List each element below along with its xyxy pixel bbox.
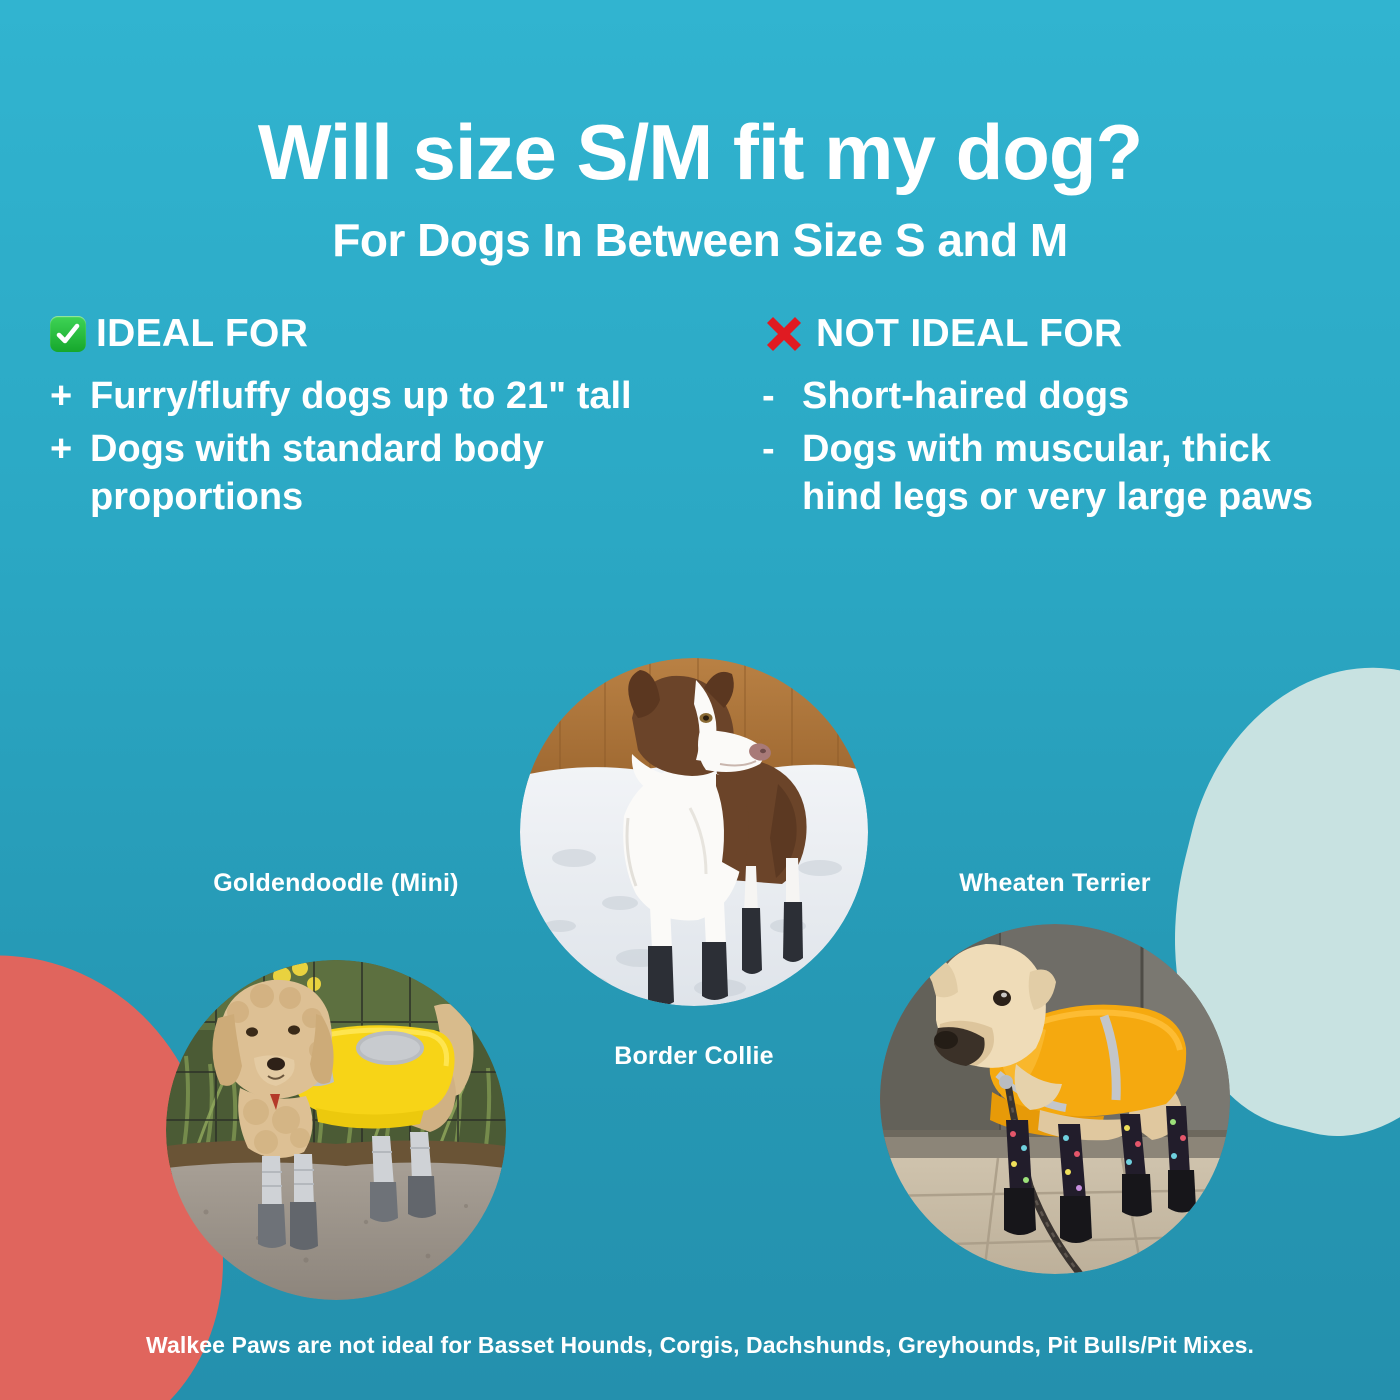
list-item-text: Furry/fluffy dogs up to 21" tall [90,372,740,421]
list-item: + Furry/fluffy dogs up to 21" tall [50,372,740,421]
poster-canvas: Will size S/M fit my dog? For Dogs In Be… [0,0,1400,1400]
list-item-text: Short-haired dogs [802,372,1322,421]
ideal-for-list: + Furry/fluffy dogs up to 21" tall + Dog… [50,372,740,522]
not-ideal-for-column: NOT IDEAL FOR - Short-haired dogs - Dogs… [762,312,1322,526]
green-check-icon [50,316,86,352]
not-ideal-for-list: - Short-haired dogs - Dogs with muscular… [762,372,1322,522]
not-ideal-for-label: NOT IDEAL FOR [816,312,1123,356]
list-item: + Dogs with standard body proportions [50,425,740,522]
caption-goldendoodle: Goldendoodle (Mini) [166,869,506,898]
ideal-for-label: IDEAL FOR [96,312,308,356]
page-subtitle: For Dogs In Between Size S and M [0,213,1400,267]
list-item: - Dogs with muscular, thick hind legs or… [762,425,1322,522]
footer-disclaimer: Walkee Paws are not ideal for Basset Hou… [0,1332,1400,1359]
red-x-icon [762,314,806,354]
photo-goldendoodle [166,960,506,1300]
photo-wheaten-terrier [880,924,1230,1274]
bullet-marker: + [50,372,90,421]
not-ideal-for-heading-row: NOT IDEAL FOR [762,312,1322,356]
caption-border-collie: Border Collie [520,1042,868,1071]
list-item: - Short-haired dogs [762,372,1322,421]
bullet-marker: + [50,425,90,474]
ideal-for-heading-row: IDEAL FOR [50,312,740,356]
caption-wheaten-terrier: Wheaten Terrier [880,869,1230,898]
page-title: Will size S/M fit my dog? [0,112,1400,194]
list-item-text: Dogs with muscular, thick hind legs or v… [802,425,1322,522]
bullet-marker: - [762,425,802,474]
list-item-text: Dogs with standard body proportions [90,425,740,522]
bullet-marker: - [762,372,802,421]
photo-border-collie [520,658,868,1006]
ideal-for-column: IDEAL FOR + Furry/fluffy dogs up to 21" … [50,312,740,526]
